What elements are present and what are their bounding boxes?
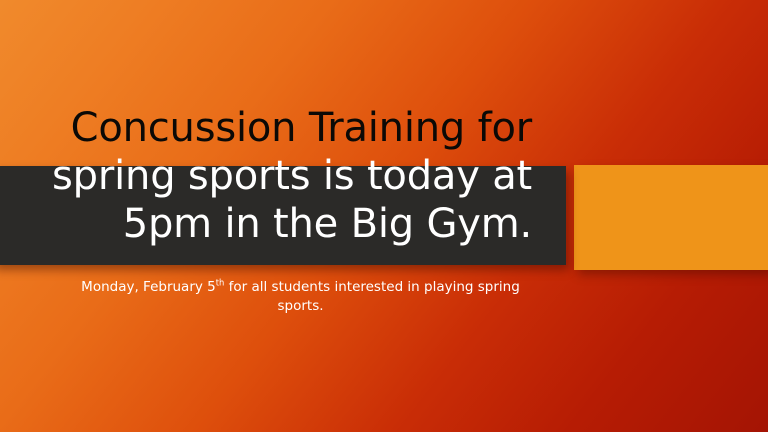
slide-subtitle: Monday, February 5th for all students in… <box>57 278 544 316</box>
presentation-slide: Concussion Training for spring sports is… <box>0 0 768 432</box>
title-line-1: Concussion Training for <box>40 104 532 152</box>
title-line-3: 5pm in the Big Gym. <box>40 200 532 248</box>
amber-accent-block <box>574 165 768 270</box>
subtitle-body: for all students interested in playing s… <box>224 279 519 314</box>
slide-title: Concussion Training for spring sports is… <box>40 104 532 248</box>
subtitle-date-prefix: Monday, February 5 <box>81 279 216 295</box>
title-line-2: spring sports is today at <box>40 152 532 200</box>
